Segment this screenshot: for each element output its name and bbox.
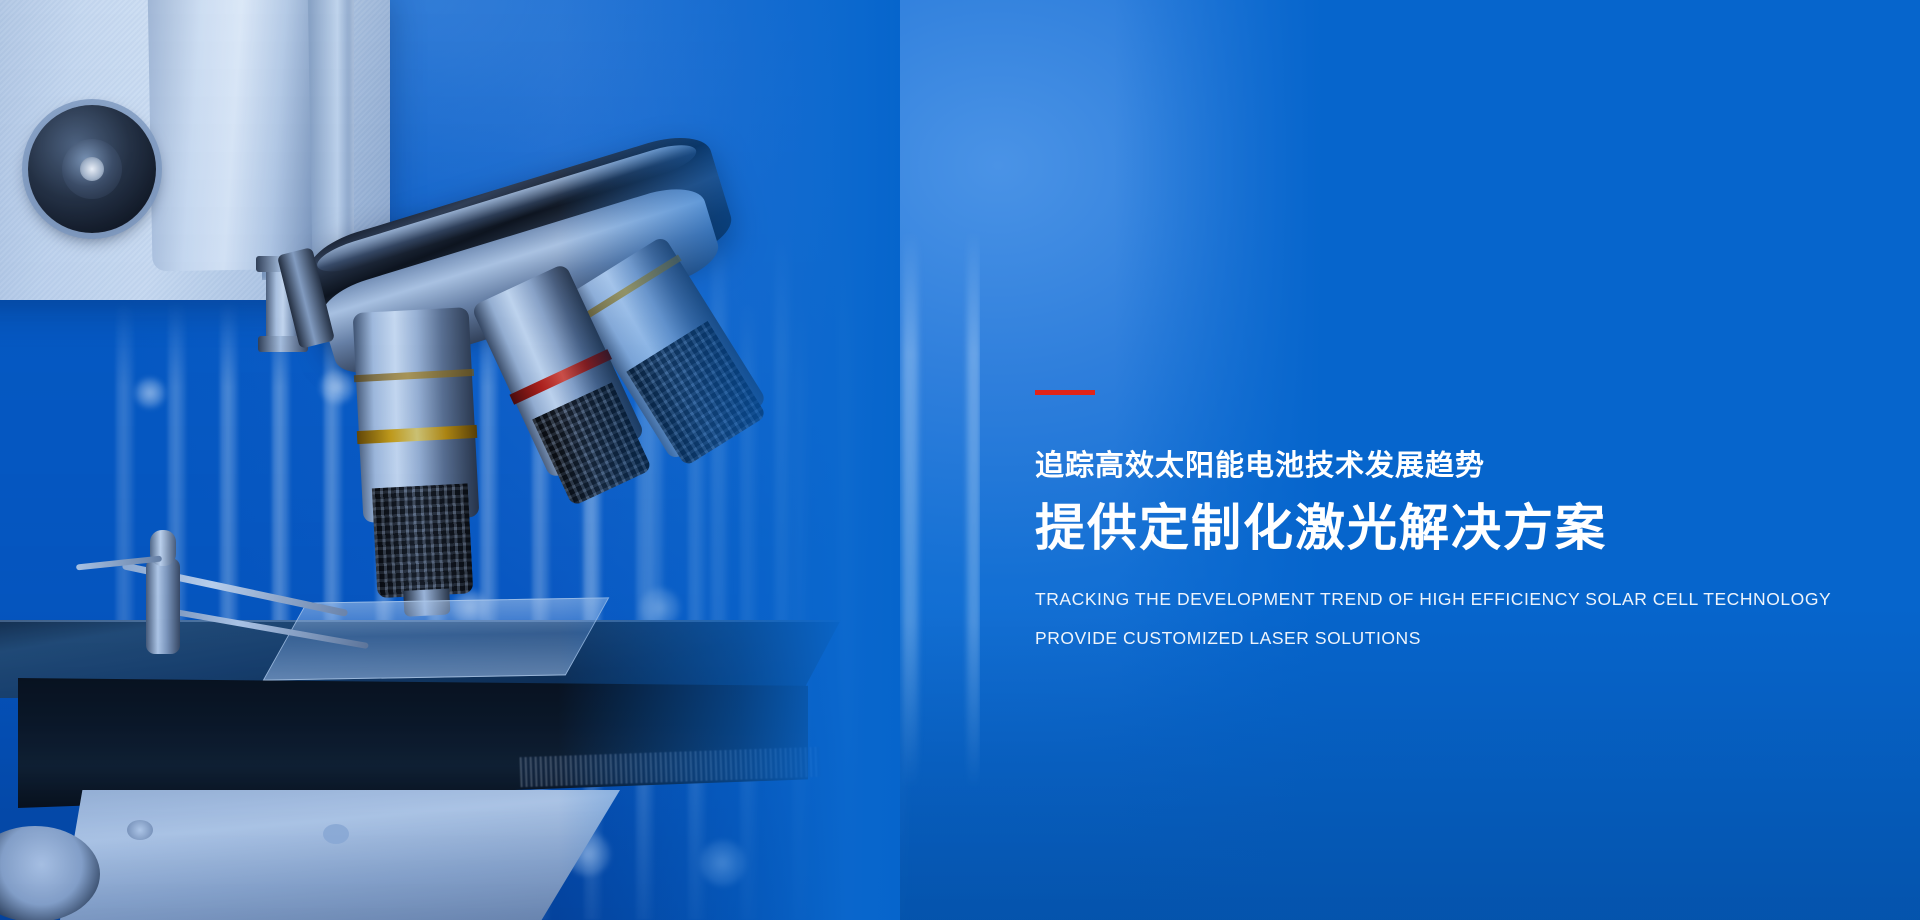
stage-clip-post [146,558,180,654]
objective-knurled-grip [372,483,474,598]
objective-lens-1 [353,307,480,523]
headline-subtitle: 追踪高效太阳能电池技术发展趋势 [1035,449,1875,484]
microscope-tube [147,0,312,271]
headline-title: 提供定制化激光解决方案 [1035,500,1875,558]
accent-bar [1035,390,1095,395]
english-subtitle-group: TRACKING THE DEVELOPMENT TREND OF HIGH E… [1035,591,1875,647]
objective-knurled-grip [626,321,767,467]
objective-color-band [354,369,474,382]
microscope-image [0,0,900,920]
english-subtitle-line-2: PROVIDE CUSTOMIZED LASER SOLUTIONS [1035,630,1875,648]
objective-color-band [357,425,478,444]
hero-banner: 追踪高效太阳能电池技术发展趋势 提供定制化激光解决方案 TRACKING THE… [0,0,1920,920]
focus-knob [28,105,156,233]
english-subtitle-line-1: TRACKING THE DEVELOPMENT TREND OF HIGH E… [1035,591,1875,609]
hero-copy: 追踪高效太阳能电池技术发展趋势 提供定制化激光解决方案 TRACKING THE… [1035,390,1875,647]
microscope-base [60,790,620,920]
microscope-stage-front [18,678,808,808]
